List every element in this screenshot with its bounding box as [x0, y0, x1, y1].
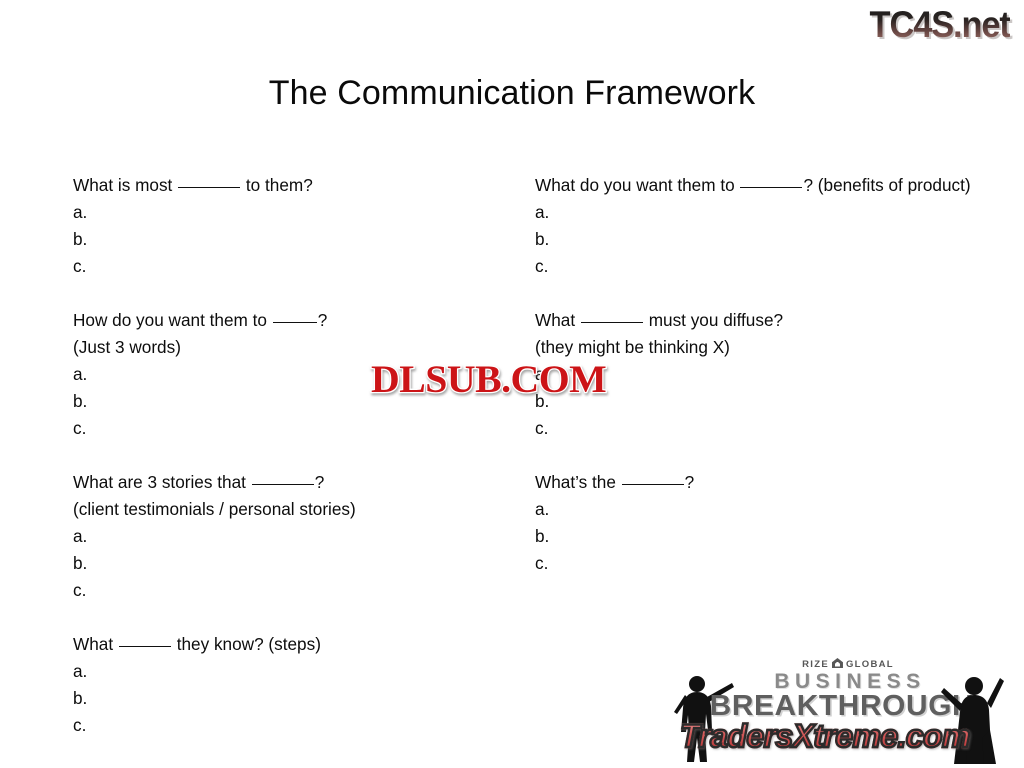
option-c: c. [535, 253, 975, 280]
fill-in-blank[interactable] [178, 187, 240, 188]
question-text-pre: How do you want them to [73, 310, 267, 330]
question-block: What’s the ? a. b. c. [535, 469, 975, 577]
rize-global-wordmark: RIZEGLOBAL [768, 658, 928, 670]
question-text-post: ? [685, 472, 695, 492]
question-text-pre: What [73, 634, 113, 654]
option-b: b. [73, 685, 493, 712]
option-c: c. [73, 712, 493, 739]
business-breakthrough-logo: RIZEGLOBAL BUSINESS BREAKTHROUGH Traders… [672, 652, 1024, 768]
question-block: What do you want them to ? (benefits of … [535, 172, 975, 280]
question-subtitle: (client testimonials / personal stories) [73, 496, 493, 523]
fill-in-blank[interactable] [581, 322, 643, 323]
question-line: What’s the ? [535, 469, 975, 496]
question-text-pre: What do you want them to [535, 175, 735, 195]
tradersxtreme-watermark: TradersXtreme.com [680, 720, 970, 752]
fill-in-blank[interactable] [273, 322, 317, 323]
slide-canvas: TC4S.net TC4S.net The Communication Fram… [0, 0, 1024, 768]
question-subtitle: (they might be thinking X) [535, 334, 975, 361]
option-b: b. [73, 226, 493, 253]
question-text-pre: What are 3 stories that [73, 472, 246, 492]
global-text: GLOBAL [846, 659, 894, 670]
question-text-post: must you diffuse? [649, 310, 783, 330]
option-a: a. [73, 658, 493, 685]
option-a: a. [535, 199, 975, 226]
option-b: b. [73, 550, 493, 577]
question-text-post: ? [315, 472, 325, 492]
fill-in-blank[interactable] [622, 484, 684, 485]
option-c: c. [535, 550, 975, 577]
option-c: c. [73, 577, 493, 604]
question-line: What must you diffuse? [535, 307, 975, 334]
question-line: What is most to them? [73, 172, 493, 199]
rize-text: RIZE [802, 659, 829, 670]
question-text-pre: What’s the [535, 472, 616, 492]
question-line: What do you want them to ? (benefits of … [535, 172, 975, 199]
question-block: What are 3 stories that ? (client testim… [73, 469, 493, 604]
question-line: What they know? (steps) [73, 631, 493, 658]
question-text-pre: What [535, 310, 575, 330]
question-text-pre: What is most [73, 175, 172, 195]
question-text-post: to them? [246, 175, 313, 195]
question-text-post: ? (benefits of product) [803, 175, 970, 195]
option-c: c. [73, 253, 493, 280]
rize-diamond-icon [832, 658, 843, 668]
left-column: What is most to them? a. b. c. How do yo… [73, 172, 493, 739]
fill-in-blank[interactable] [252, 484, 314, 485]
option-b: b. [535, 226, 975, 253]
dlsub-watermark: DLSUB.COM [371, 360, 606, 399]
question-line: What are 3 stories that ? [73, 469, 493, 496]
question-subtitle: (Just 3 words) [73, 334, 493, 361]
question-text-post: they know? (steps) [177, 634, 321, 654]
question-block: What they know? (steps) a. b. c. [73, 631, 493, 739]
question-text-post: ? [318, 310, 328, 330]
option-a: a. [73, 523, 493, 550]
question-line: How do you want them to ? [73, 307, 493, 334]
option-a: a. [73, 199, 493, 226]
option-c: c. [535, 415, 975, 442]
fill-in-blank[interactable] [119, 646, 171, 647]
tc4s-logo: TC4S.net [870, 6, 1010, 43]
question-block: What is most to them? a. b. c. [73, 172, 493, 280]
option-b: b. [535, 523, 975, 550]
fill-in-blank[interactable] [740, 187, 802, 188]
page-title: The Communication Framework [0, 74, 1024, 113]
option-a: a. [535, 496, 975, 523]
option-c: c. [73, 415, 493, 442]
